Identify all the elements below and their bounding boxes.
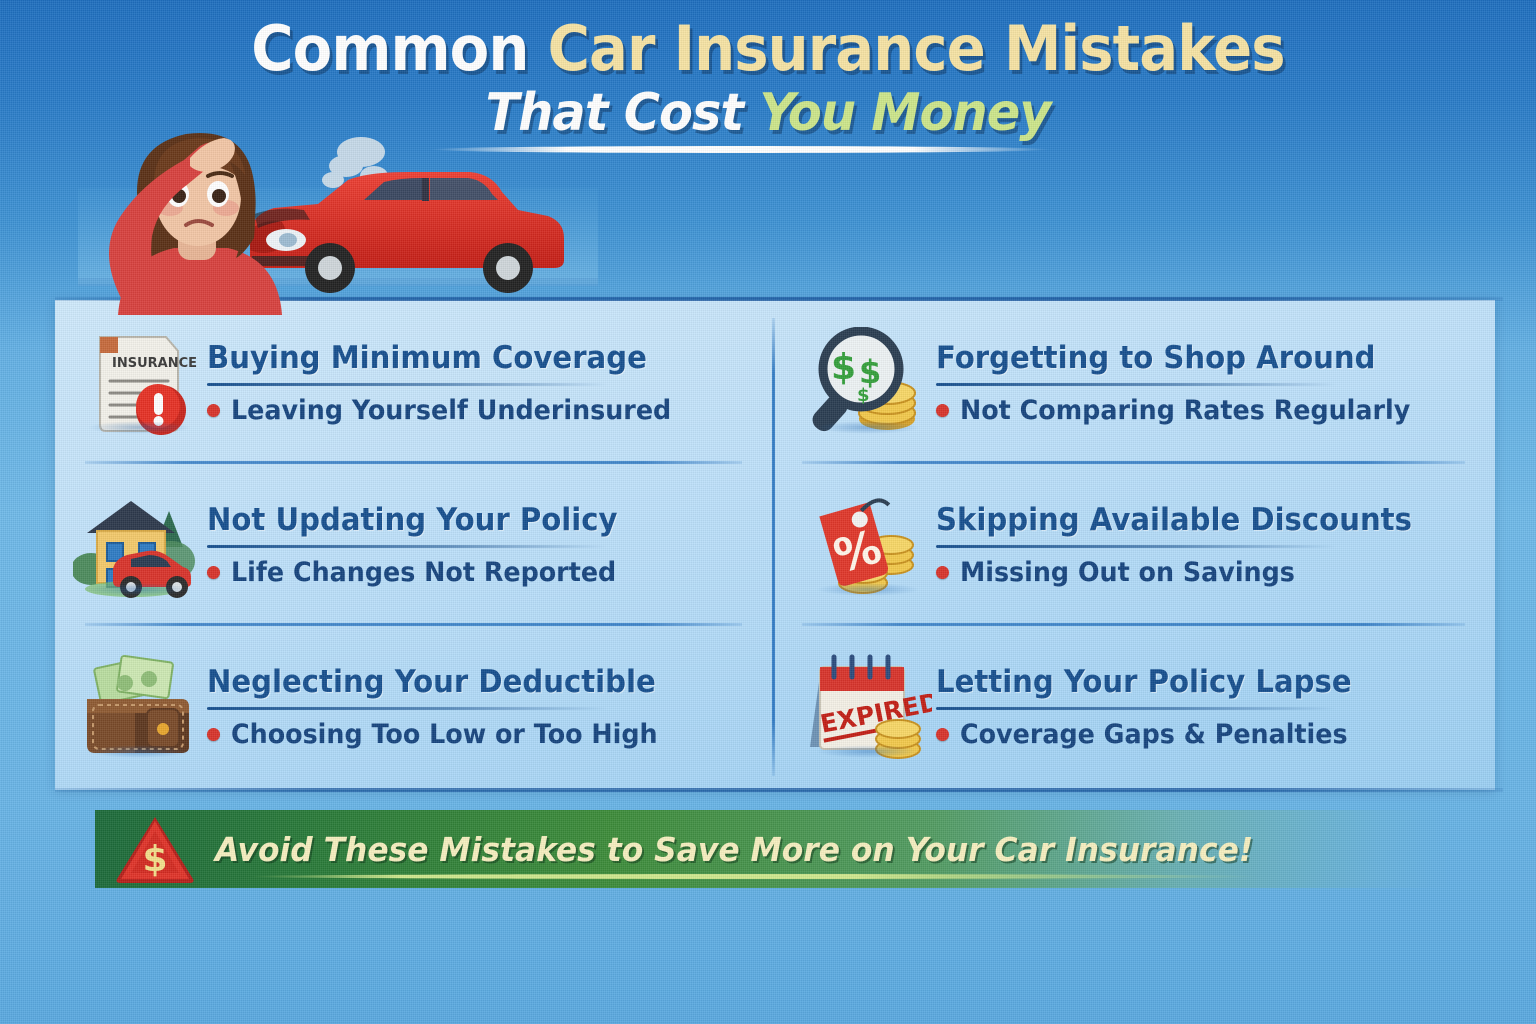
- wallet-icon: [87, 699, 189, 753]
- mistake-item-not-updating-your-policy[interactable]: Not Updating Your Policy Life Changes No…: [55, 464, 772, 626]
- magnifier-dollars-coins-icon: $ $ $: [802, 324, 932, 442]
- mistake-sub: Leaving Yourself Underinsured: [231, 395, 671, 427]
- dollar-warning-triangle-icon: $: [113, 813, 197, 885]
- bullet-icon: [207, 728, 220, 741]
- subtitle-part-you-money: You Money: [759, 83, 1050, 143]
- gold-coins-icon: [876, 720, 920, 758]
- title-rule: [207, 707, 607, 710]
- hero-illustration: [78, 110, 598, 315]
- banner-message: Avoid These Mistakes to Save More on You…: [215, 830, 1253, 869]
- mistake-title: Forgetting to Shop Around: [936, 340, 1409, 376]
- mistake-title: Skipping Available Discounts: [936, 502, 1412, 538]
- mistake-title: Letting Your Policy Lapse: [936, 664, 1352, 700]
- mistake-text-block: Buying Minimum Coverage Leaving Yourself…: [207, 340, 699, 427]
- insurance-doc-label: INSURANCE: [112, 356, 197, 371]
- percent-tag-coins-icon: %: [802, 486, 932, 604]
- svg-text:$: $: [831, 347, 856, 388]
- mistake-text-block: Not Updating Your Policy Life Changes No…: [207, 502, 644, 589]
- mistake-sub: Not Comparing Rates Regularly: [960, 395, 1410, 427]
- mistake-text-block: Forgetting to Shop Around Not Comparing …: [936, 340, 1439, 427]
- bullet-icon: [936, 728, 949, 741]
- cash-icon: [94, 656, 173, 704]
- bullet-icon: [936, 404, 949, 417]
- mistake-sub-row: Choosing Too Low or Too High: [207, 719, 685, 751]
- mistake-sub: Choosing Too Low or Too High: [231, 719, 658, 751]
- dollar-sign-label: $: [142, 839, 167, 880]
- column-divider: [772, 318, 775, 776]
- mistakes-grid: INSURANCE: [55, 302, 1495, 788]
- mistake-sub-row: Life Changes Not Reported: [207, 557, 644, 589]
- mistake-item-buying-minimum-coverage[interactable]: INSURANCE: [55, 302, 772, 464]
- title-rule: [207, 383, 607, 386]
- mistake-title: Neglecting Your Deductible: [207, 664, 656, 700]
- mistake-title: Not Updating Your Policy: [207, 502, 618, 538]
- mistake-item-letting-your-policy-lapse[interactable]: EXPIRED Letting Your Policy Lapse: [772, 626, 1495, 788]
- mistake-text-block: Letting Your Policy Lapse Coverage Gaps …: [936, 664, 1378, 751]
- title-part-car-insurance-mistakes: Car Insurance Mistakes: [548, 12, 1285, 85]
- mistake-text-block: Skipping Available Discounts Missing Out…: [936, 502, 1442, 589]
- mistake-item-neglecting-your-deductible[interactable]: Neglecting Your Deductible Choosing Too …: [55, 626, 772, 788]
- mistake-text-block: Neglecting Your Deductible Choosing Too …: [207, 664, 685, 751]
- mistake-sub: Life Changes Not Reported: [231, 557, 616, 589]
- mistake-sub-row: Missing Out on Savings: [936, 557, 1442, 589]
- insurance-document-icon: INSURANCE: [73, 324, 203, 442]
- house-and-car-icon: [73, 486, 203, 604]
- panel-bottom-divider: [55, 788, 1503, 792]
- title-rule: [936, 383, 1336, 386]
- mistake-sub-row: Not Comparing Rates Regularly: [936, 395, 1439, 427]
- mistake-sub: Coverage Gaps & Penalties: [960, 719, 1348, 751]
- svg-text:$: $: [857, 385, 870, 406]
- title-part-common: Common: [251, 12, 547, 85]
- mistake-sub-row: Coverage Gaps & Penalties: [936, 719, 1378, 751]
- mistake-title: Buying Minimum Coverage: [207, 340, 670, 376]
- wallet-with-cash-icon: [73, 648, 203, 766]
- mistake-item-skipping-available-discounts[interactable]: % Skipping Available Discounts Missing O…: [772, 464, 1495, 626]
- banner-underline-swoosh: [250, 874, 1260, 879]
- mistake-sub-row: Leaving Yourself Underinsured: [207, 395, 699, 427]
- bullet-icon: [936, 566, 949, 579]
- page-title: Common Car Insurance Mistakes: [54, 0, 1482, 84]
- bullet-icon: [207, 404, 220, 417]
- title-rule: [936, 545, 1336, 548]
- title-rule: [936, 707, 1336, 710]
- bullet-icon: [207, 566, 220, 579]
- mistake-sub: Missing Out on Savings: [960, 557, 1295, 589]
- expired-calendar-coins-icon: EXPIRED: [802, 648, 932, 766]
- infographic-poster: Common Car Insurance Mistakes That Cost …: [0, 0, 1536, 1024]
- title-rule: [207, 545, 607, 548]
- call-to-action-banner: $ Avoid These Mistakes to Save More on Y…: [95, 810, 1450, 888]
- mistake-item-forgetting-to-shop-around[interactable]: $ $ $ Forgetting to Shop Around Not Comp…: [772, 302, 1495, 464]
